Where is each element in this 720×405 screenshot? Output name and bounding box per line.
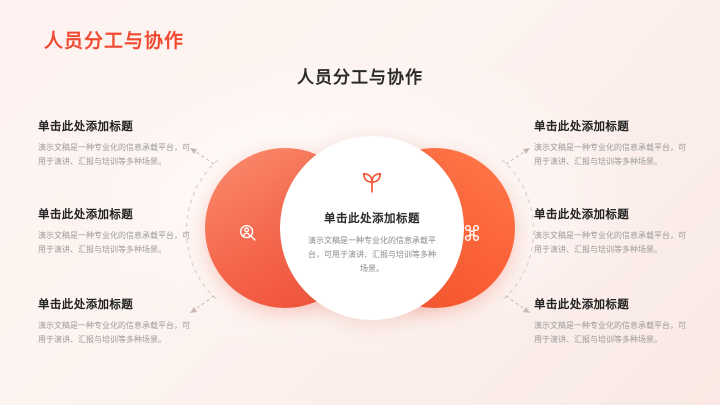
text-block-right-1: 单击此处添加标题 演示文稿是一种专业化的信息承载平台，可用于演讲、汇报与培训等多… bbox=[534, 118, 686, 169]
text-block-right-3: 单击此处添加标题 演示文稿是一种专业化的信息承载平台，可用于演讲、汇报与培训等多… bbox=[534, 296, 686, 347]
block-title: 单击此处添加标题 bbox=[38, 118, 190, 134]
text-block-right-2: 单击此处添加标题 演示文稿是一种专业化的信息承载平台，可用于演讲、汇报与培训等多… bbox=[534, 206, 686, 257]
magnifier-person-icon bbox=[235, 220, 261, 246]
leaf-icon bbox=[358, 168, 386, 196]
center-circle[interactable]: 单击此处添加标题 演示文稿是一种专业化的信息承载平台，可用于演讲、汇报与培训等多… bbox=[280, 136, 464, 320]
text-block-left-2: 单击此处添加标题 演示文稿是一种专业化的信息承载平台，可用于演讲、汇报与培训等多… bbox=[38, 206, 190, 257]
page-title: 人员分工与协作 bbox=[0, 63, 720, 88]
center-title: 单击此处添加标题 bbox=[324, 210, 420, 226]
block-title: 单击此处添加标题 bbox=[534, 118, 686, 134]
block-title: 单击此处添加标题 bbox=[534, 296, 686, 312]
center-body: 演示文稿是一种专业化的信息承载平台，可用于演讲、汇报与培训等多种场景。 bbox=[308, 234, 436, 276]
block-title: 单击此处添加标题 bbox=[534, 206, 686, 222]
block-body: 演示文稿是一种专业化的信息承载平台，可用于演讲、汇报与培训等多种场景。 bbox=[534, 141, 686, 169]
block-body: 演示文稿是一种专业化的信息承载平台，可用于演讲、汇报与培训等多种场景。 bbox=[534, 229, 686, 257]
block-body: 演示文稿是一种专业化的信息承载平台，可用于演讲、汇报与培训等多种场景。 bbox=[38, 229, 190, 257]
block-title: 单击此处添加标题 bbox=[38, 206, 190, 222]
block-body: 演示文稿是一种专业化的信息承载平台，可用于演讲、汇报与培训等多种场景。 bbox=[534, 319, 686, 347]
slide: 人员分工与协作 人员分工与协作 bbox=[0, 0, 720, 405]
text-block-left-1: 单击此处添加标题 演示文稿是一种专业化的信息承载平台，可用于演讲、汇报与培训等多… bbox=[38, 118, 190, 169]
block-body: 演示文稿是一种专业化的信息承载平台，可用于演讲、汇报与培训等多种场景。 bbox=[38, 319, 190, 347]
block-title: 单击此处添加标题 bbox=[38, 296, 190, 312]
block-body: 演示文稿是一种专业化的信息承载平台，可用于演讲、汇报与培训等多种场景。 bbox=[38, 141, 190, 169]
corner-title: 人员分工与协作 bbox=[44, 26, 184, 53]
venn-diagram: 单击此处添加标题 演示文稿是一种专业化的信息承载平台，可用于演讲、汇报与培训等多… bbox=[205, 158, 515, 298]
text-block-left-3: 单击此处添加标题 演示文稿是一种专业化的信息承载平台，可用于演讲、汇报与培训等多… bbox=[38, 296, 190, 347]
